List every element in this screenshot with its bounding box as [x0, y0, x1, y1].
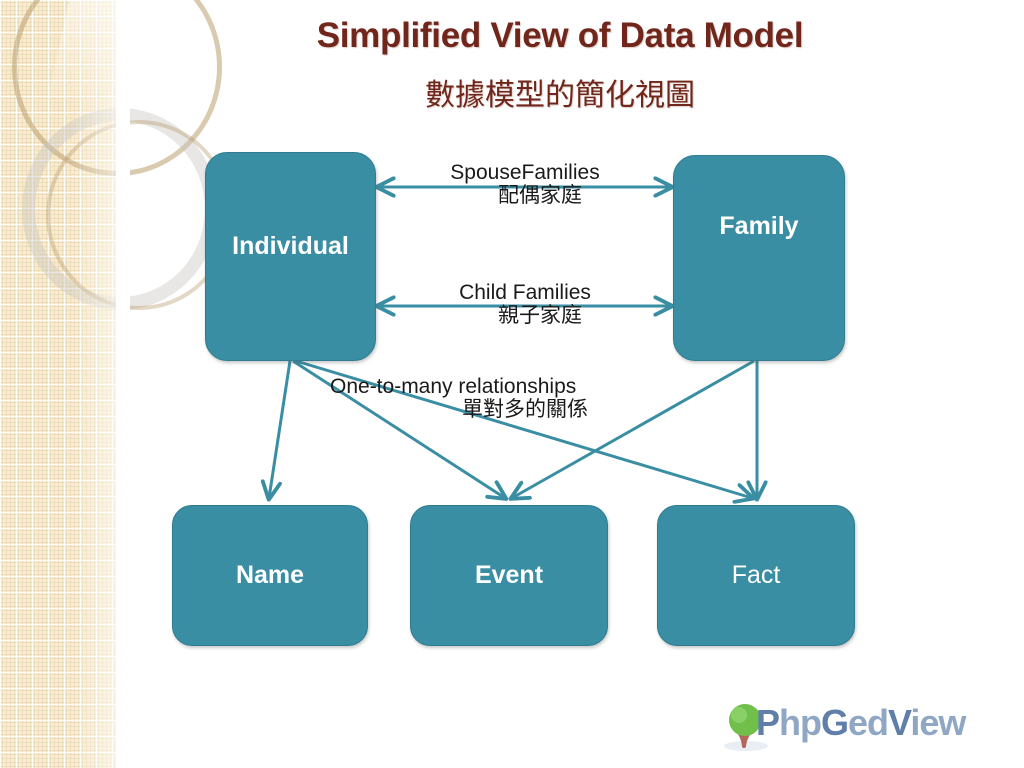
edge-individual-name [269, 361, 290, 498]
logo-part-ed: ed [848, 702, 888, 743]
label-child-families-en: Child Families [380, 282, 670, 305]
node-event[interactable]: Event [410, 505, 608, 646]
node-fact[interactable]: Fact [657, 505, 855, 646]
node-fact-label: Fact [732, 561, 781, 590]
label-one-to-many-zh: 單對多的關係 [462, 399, 660, 422]
node-individual[interactable]: Individual [205, 152, 376, 361]
node-name[interactable]: Name [172, 505, 368, 646]
label-child-families: Child Families 親子家庭 [380, 282, 670, 327]
label-child-families-zh: 親子家庭 [410, 305, 670, 328]
node-name-label: Name [236, 561, 304, 590]
logo-part-hp: hp [779, 702, 821, 743]
label-one-to-many-en: One-to-many relationships [330, 376, 660, 399]
phpgedview-logo: PhpGedView [722, 700, 962, 756]
phpgedview-logo-text: PhpGedView [756, 702, 965, 744]
node-family-label: Family [719, 212, 798, 241]
node-event-label: Event [475, 561, 543, 590]
label-one-to-many: One-to-many relationships 單對多的關係 [330, 376, 660, 421]
slide-canvas: Simplified View of Data Model 數據模型的簡化視圖 … [0, 0, 1024, 768]
logo-part-p: P [756, 702, 779, 743]
label-spouse-families-en: SpouseFamilies [380, 162, 670, 185]
logo-part-v: V [888, 702, 910, 743]
node-family[interactable]: Family [673, 155, 845, 361]
node-individual-label: Individual [232, 232, 349, 261]
label-spouse-families: SpouseFamilies 配偶家庭 [380, 162, 670, 207]
label-spouse-families-zh: 配偶家庭 [410, 185, 670, 208]
logo-part-iew: iew [910, 702, 965, 743]
logo-part-g: G [821, 702, 848, 743]
